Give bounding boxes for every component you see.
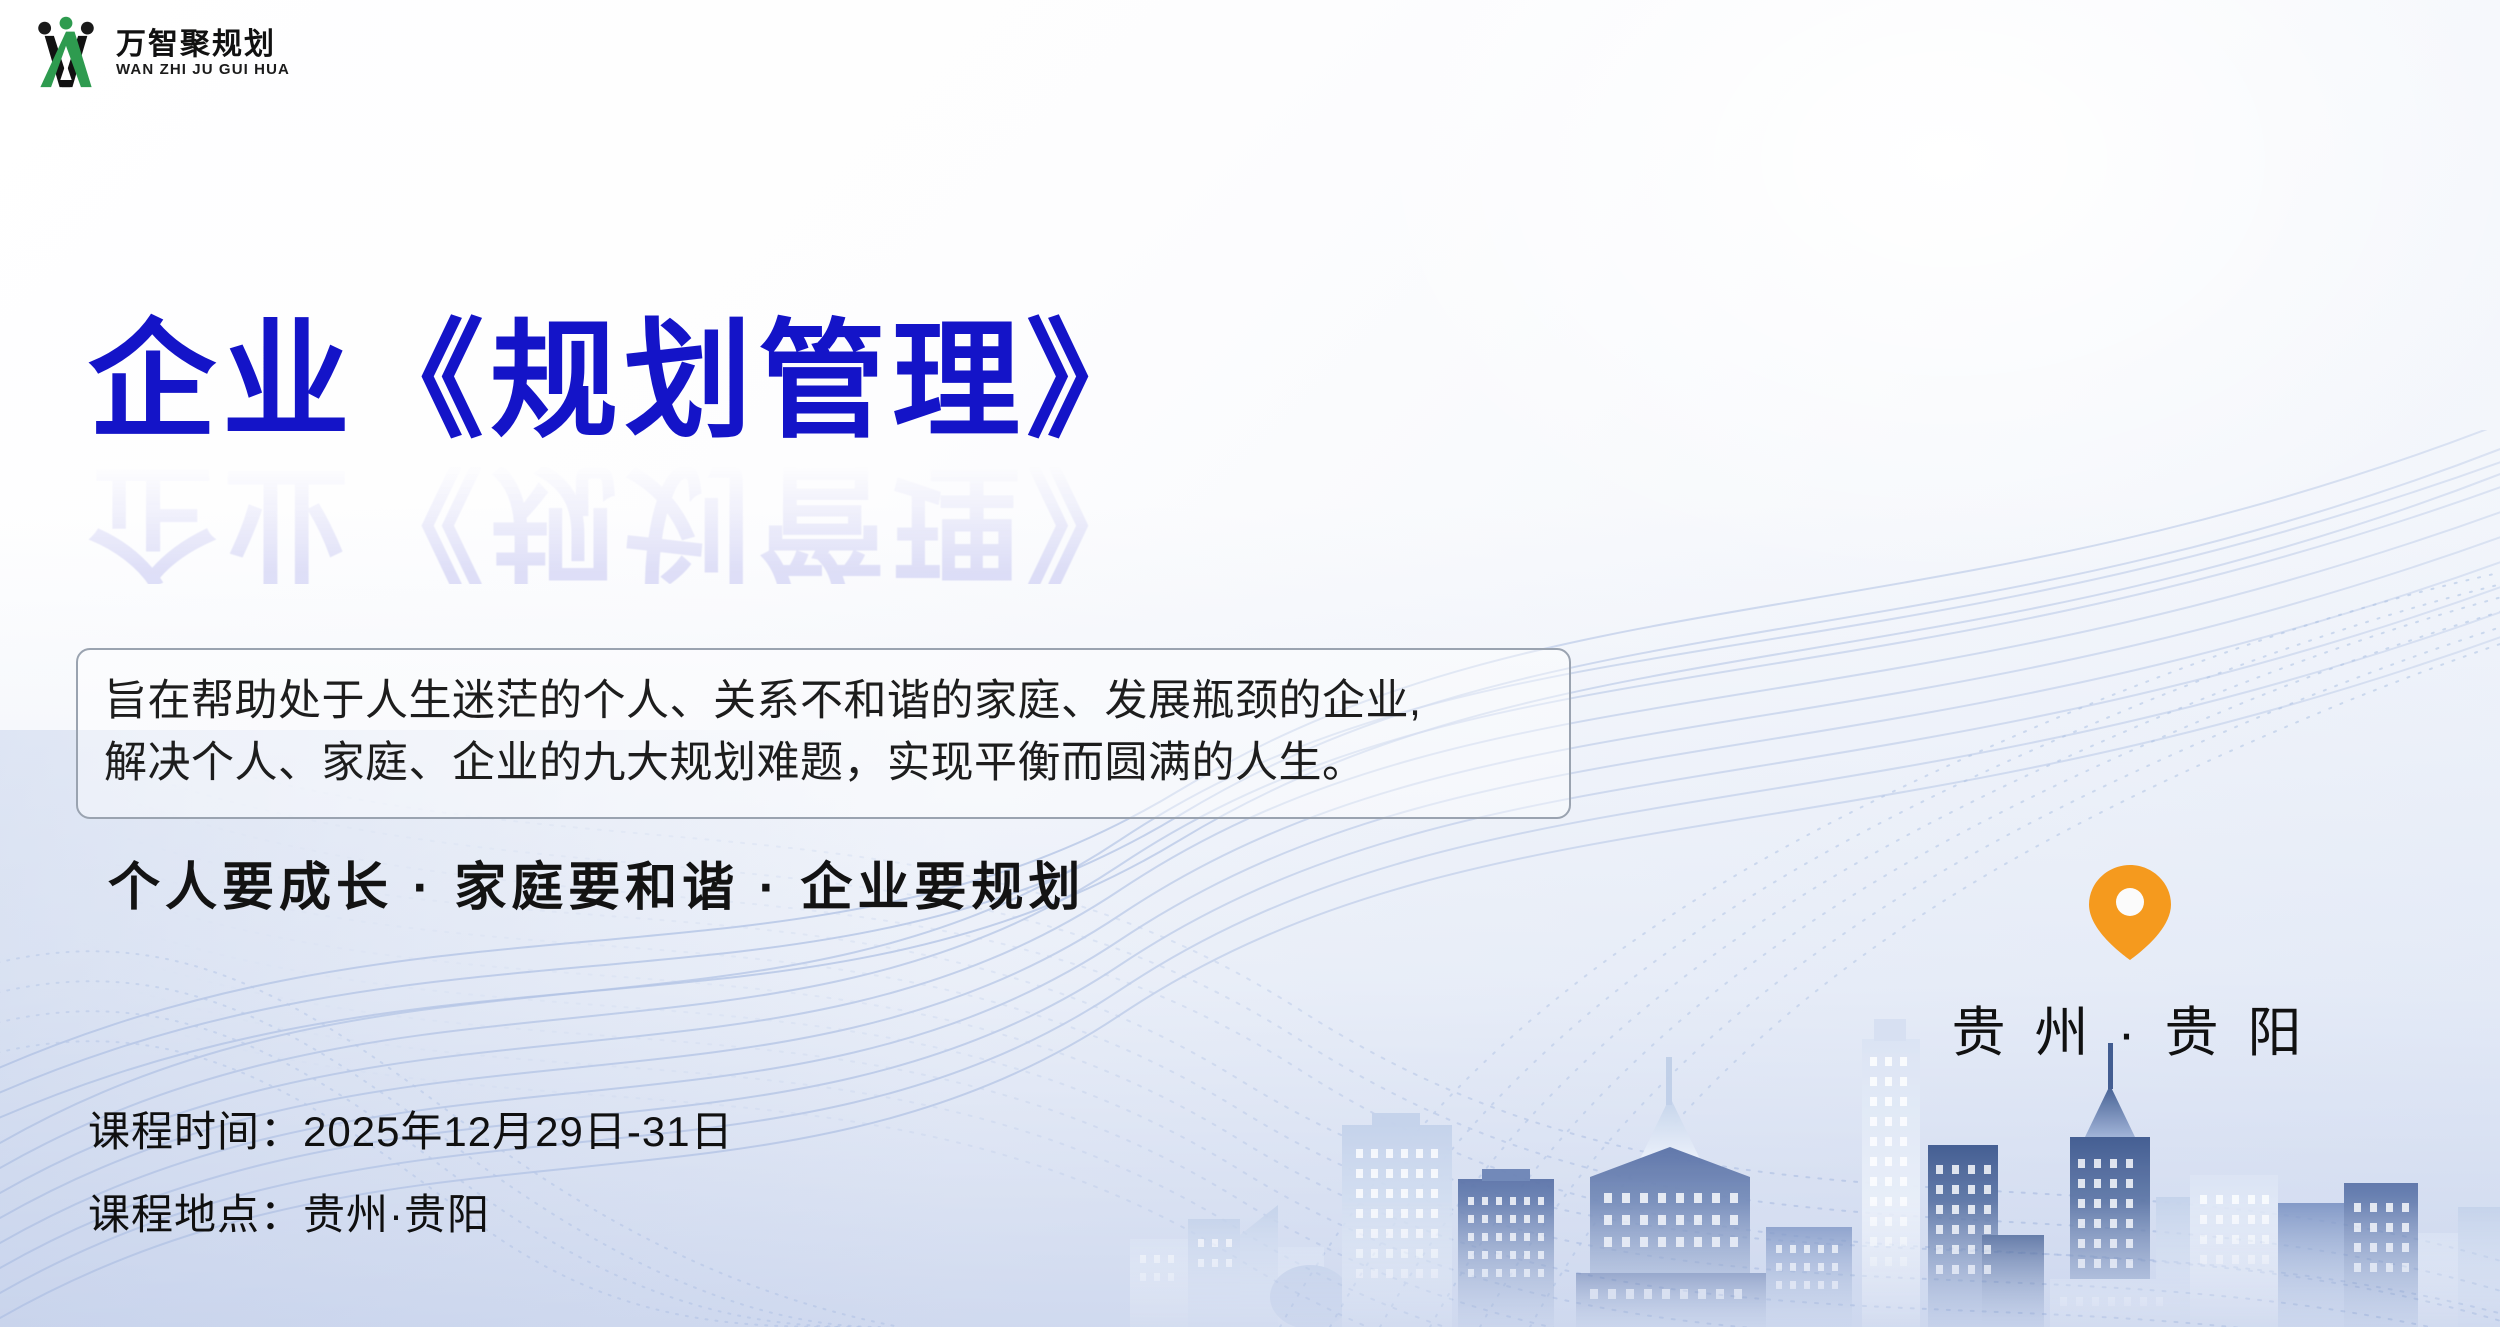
slogan-text: 个人要成长 · 家庭要和谐 · 企业要规划 [108,845,1085,920]
brand-logo: 万智聚规划 WAN ZHI JU GUI HUA [30,16,290,90]
brand-name-cn: 万智聚规划 [116,29,290,61]
location-label: 贵 州 · 贵 阳 [1952,988,2309,1067]
description-box: 旨在帮助处于人生迷茫的个人、关系不和谐的家庭、发展瓶颈的企业, 解决个人、家庭、… [76,648,1571,819]
page-title-reflection: 企业《规划管理》 [88,456,1160,584]
map-pin-icon [2084,862,2176,962]
three-people-logo-icon [30,16,102,90]
hero-title-block: 企业《规划管理》 企业《规划管理》 [88,318,1588,578]
page-title: 企业《规划管理》 [88,318,1588,446]
brand-name-en: WAN ZHI JU GUI HUA [116,62,290,77]
description-line-1: 旨在帮助处于人生迷茫的个人、关系不和谐的家庭、发展瓶颈的企业, [104,670,1543,732]
course-place-line: 课程地点：贵州·贵阳 [88,1181,734,1242]
course-time-line: 课程时间：2025年12月29日-31日 [88,1098,734,1159]
location-badge: 贵 州 · 贵 阳 [1940,862,2320,1067]
poster-canvas: 万智聚规划 WAN ZHI JU GUI HUA 企业《规划管理》 企业《规划管… [0,0,2500,1327]
course-details: 课程时间：2025年12月29日-31日 课程地点：贵州·贵阳 [88,1098,734,1242]
brand-logo-text: 万智聚规划 WAN ZHI JU GUI HUA [116,29,290,78]
description-line-2: 解决个人、家庭、企业的九大规划难题，实现平衡而圆满的人生。 [104,732,1543,794]
